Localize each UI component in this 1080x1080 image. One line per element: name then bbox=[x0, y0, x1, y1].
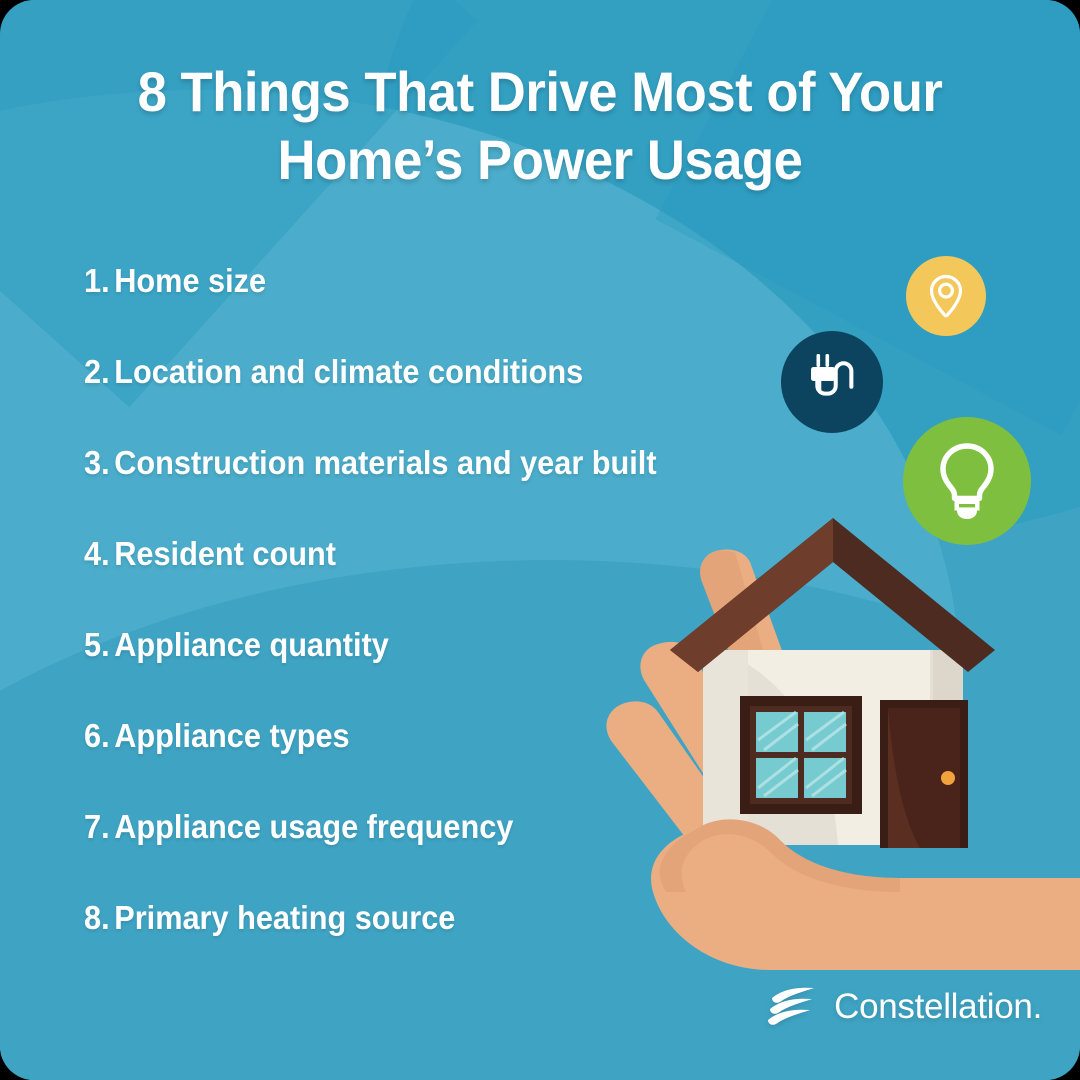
location-pin-icon bbox=[922, 272, 970, 320]
logo-trademark-dot: . bbox=[1033, 987, 1042, 1026]
house-window bbox=[740, 696, 862, 814]
list-item-number: 8. bbox=[84, 899, 110, 936]
illustration-svg bbox=[600, 500, 1080, 970]
page-title-line-2: Home’s Power Usage bbox=[83, 126, 997, 194]
power-badge bbox=[781, 331, 883, 433]
list-item-number: 1. bbox=[84, 262, 110, 299]
list-item-label: Home size bbox=[114, 262, 266, 299]
power-plug-icon bbox=[802, 351, 862, 413]
infographic-canvas: 8 Things That Drive Most of Your Home’s … bbox=[0, 0, 1080, 1080]
constellation-swoosh-icon bbox=[766, 986, 818, 1028]
list-item-number: 2. bbox=[84, 353, 110, 390]
logo-name: Constellation bbox=[834, 987, 1032, 1026]
list-item-number: 6. bbox=[84, 717, 110, 754]
list-item-label: Construction materials and year built bbox=[114, 444, 656, 481]
list-item-label: Resident count bbox=[114, 535, 336, 572]
door-knob bbox=[941, 771, 955, 785]
list-item: 1.Home size bbox=[84, 262, 791, 353]
location-badge bbox=[906, 256, 986, 336]
list-item-label: Primary heating source bbox=[114, 899, 455, 936]
list-item-label: Appliance quantity bbox=[114, 626, 389, 663]
logo-wordmark: Constellation. bbox=[834, 987, 1042, 1027]
list-item-label: Appliance types bbox=[114, 717, 349, 754]
constellation-logo: Constellation. bbox=[766, 986, 1042, 1028]
list-item-number: 4. bbox=[84, 535, 110, 572]
list-item-label: Appliance usage frequency bbox=[114, 808, 513, 845]
list-item: 2.Location and climate conditions bbox=[84, 353, 791, 444]
list-item-number: 3. bbox=[84, 444, 110, 481]
page-title: 8 Things That Drive Most of Your Home’s … bbox=[32, 58, 1047, 195]
page-title-line-1: 8 Things That Drive Most of Your bbox=[83, 58, 997, 126]
house-door bbox=[880, 700, 968, 848]
list-item-number: 5. bbox=[84, 626, 110, 663]
list-item-label: Location and climate conditions bbox=[114, 353, 583, 390]
hand-holding-house-illustration bbox=[600, 500, 1080, 970]
list-item-number: 7. bbox=[84, 808, 110, 845]
